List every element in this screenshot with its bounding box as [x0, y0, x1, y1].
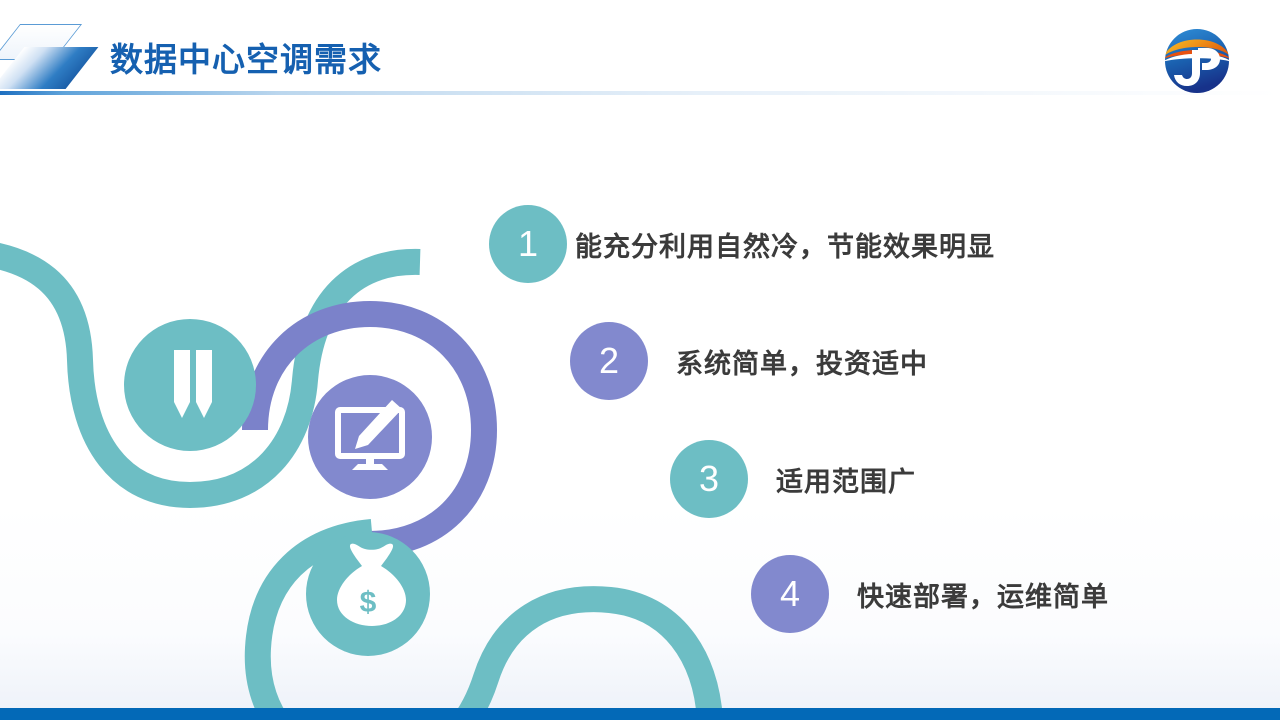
- slide-bottom-bar: [0, 708, 1280, 720]
- list-item[interactable]: 2 系统简单，投资适中: [570, 322, 928, 400]
- benefit-text-2: 系统简单，投资适中: [676, 342, 928, 381]
- benefit-text-4: 快速部署，运维简单: [857, 575, 1109, 614]
- bullet-number-3: 3: [670, 440, 748, 518]
- slide-canvas: $ 数据中心空调需求: [0, 0, 1280, 720]
- benefits-list: 1 能充分利用自然冷，节能效果明显 2 系统简单，投资适中 3 适用范围广 4 …: [0, 0, 1280, 720]
- list-item[interactable]: 3 适用范围广: [670, 440, 916, 518]
- list-item[interactable]: 4 快速部署，运维简单: [751, 555, 1109, 633]
- list-item[interactable]: 1 能充分利用自然冷，节能效果明显: [489, 205, 995, 283]
- bullet-number-1: 1: [489, 205, 567, 283]
- bullet-number-4: 4: [751, 555, 829, 633]
- benefit-text-3: 适用范围广: [776, 460, 916, 499]
- benefit-text-1: 能充分利用自然冷，节能效果明显: [575, 225, 995, 264]
- bullet-number-2: 2: [570, 322, 648, 400]
